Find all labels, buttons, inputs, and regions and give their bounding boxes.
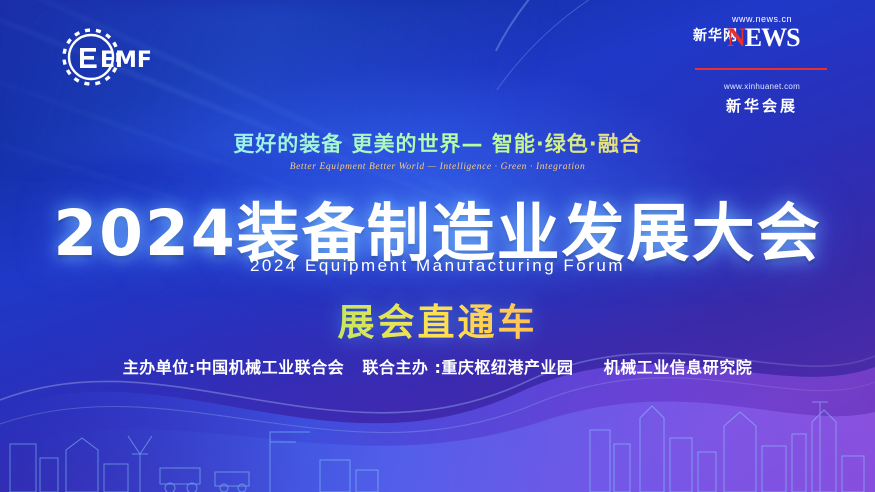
slogan-chinese: 更好的装备 更美的世界— 智能·绿色·融合 [0,128,875,158]
event-poster: EMF www.news.cn 新华网 NEWS www.xinhuanet.c… [0,0,875,492]
xinhua-logo: www.news.cn 新华网 NEWS www.xinhuanet.com 新… [687,14,837,112]
slogan-block: 更好的装备 更美的世界— 智能·绿色·融合 Better Equipment B… [0,128,875,172]
slogan-english: Better Equipment Better World — Intellig… [0,162,875,172]
city-skyline [0,372,875,492]
emf-logo-text: EMF [100,48,152,73]
xinhua-news-initial: N [727,23,745,52]
xinhua-red-underline [695,68,827,70]
organizers-line: 主办单位:中国机械工业联合会 联合主办 :重庆枢纽港产业园 机械工业信息研究院 [0,354,875,378]
xinhua-wordmark: 新华网 NEWS [687,24,837,80]
xinhua-url-bottom: www.xinhuanet.com [687,82,837,91]
emf-logo: EMF [60,26,180,88]
subtitle-english: 2024 Equipment Manufacturing Forum [0,256,875,276]
express-line: 展会直通车 [0,292,875,346]
xinhua-news-rest: EWS [745,23,800,52]
organizers-text: 主办单位:中国机械工业联合会 联合主办 :重庆枢纽港产业园 机械工业信息研究院 [123,358,752,377]
xinhua-news-word: NEWS [727,26,800,50]
xinhua-subtitle: 新华会展 [687,95,837,116]
